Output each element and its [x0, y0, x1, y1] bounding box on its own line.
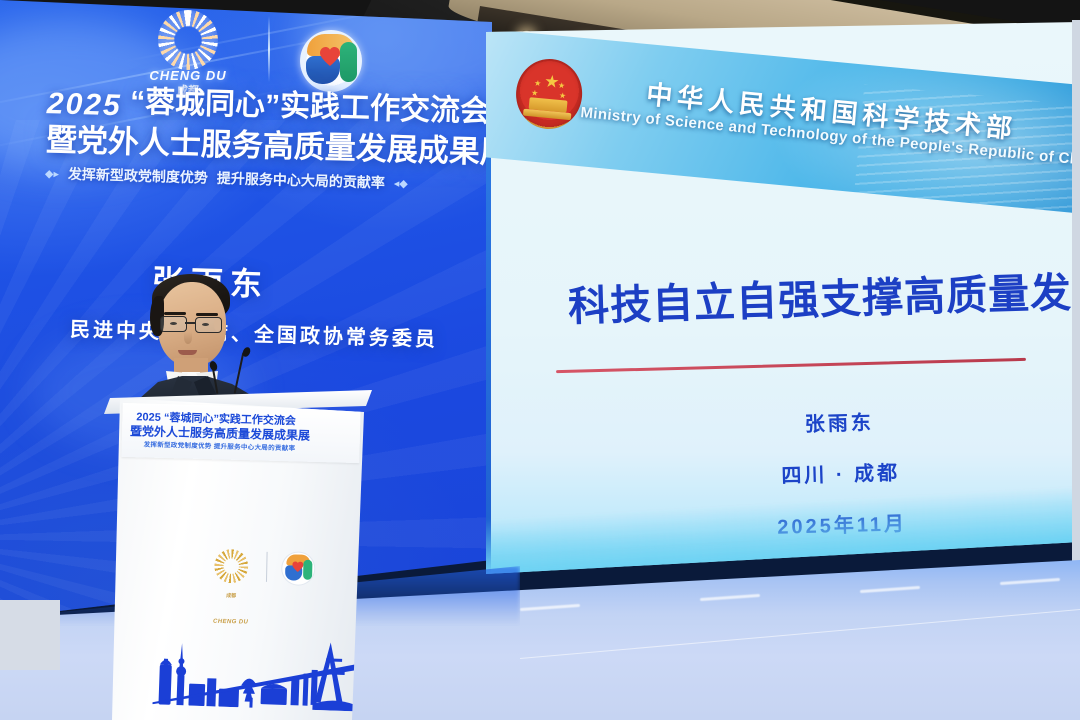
- podium-chengdu-logo-cn: 成都: [208, 592, 255, 600]
- chengdu-logo: CHENG DU 成都: [140, 8, 236, 94]
- backdrop-year: 2025: [46, 88, 122, 122]
- podium-logo-divider-icon: [266, 552, 268, 582]
- slide-subtitle-location: 四川 · 成都: [605, 451, 1076, 493]
- diamond-arrow-icon-right: ◂◆: [394, 177, 408, 190]
- conference-photo-scene: CHENG DU 成都 2025 “蓉城同心”实践工作交流会 暨党外人士服务高质…: [0, 0, 1080, 720]
- speaker-nose: [184, 332, 192, 344]
- vertical-divider-icon: [268, 16, 270, 82]
- diamond-arrow-icon: ◆▸: [45, 167, 59, 180]
- eyeglasses-icon: [160, 316, 224, 331]
- presentation-screen: ★ ★ ★ ★ ★ 中华人民共和国科学技术部 Ministry of Scien…: [486, 22, 1080, 574]
- speaker-mouth: [178, 350, 197, 355]
- slide-subtitle-name: 张雨东: [604, 400, 1075, 442]
- ministry-header-band: ★ ★ ★ ★ ★ 中华人民共和国科学技术部 Ministry of Scien…: [486, 28, 1080, 214]
- sunbird-logo-icon: [214, 549, 249, 584]
- slide-title: 科技自立自强支撑高质量发展: [567, 257, 1080, 332]
- chengdu-logo-en: CHENG DU: [140, 68, 236, 83]
- backdrop-tagline-left: 发挥新型政党制度优势: [68, 164, 209, 188]
- red-rule-divider: [556, 358, 1026, 373]
- backdrop-headline: 2025 “蓉城同心”实践工作交流会 暨党外人士服务高质量发展成果展 ◆▸ 发挥…: [45, 84, 468, 195]
- right-wall: [1072, 20, 1080, 580]
- podium-banner: 2025 “蓉城同心”实践工作交流会 暨党外人士服务高质量发展成果展 发挥新型政…: [121, 403, 360, 463]
- podium-chengdu-logo: CHENG DU 成都: [208, 549, 256, 600]
- sunbird-logo-icon: [158, 10, 218, 70]
- china-national-emblem-icon: ★ ★ ★ ★ ★: [513, 56, 585, 132]
- united-front-heart-logo-icon: [282, 552, 315, 585]
- podium-logo-row: CHENG DU 成都: [207, 549, 334, 614]
- backdrop-logo-row: CHENG DU 成都: [140, 8, 380, 90]
- left-wall-edge: [0, 600, 60, 670]
- chengdu-skyline-icon: [152, 612, 365, 711]
- podium: 2025 “蓉城同心”实践工作交流会 暨党外人士服务高质量发展成果展 发挥新型政…: [112, 398, 364, 720]
- united-front-heart-logo-icon: [300, 30, 362, 92]
